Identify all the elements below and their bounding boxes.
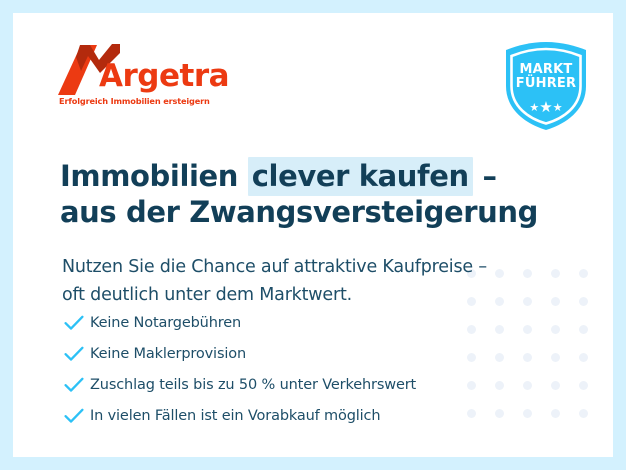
subheadline-line-2: oft deutlich unter dem Marktwert. — [62, 285, 352, 305]
badge-star-left: ★ — [529, 102, 539, 114]
grid-dot — [551, 325, 560, 334]
badge-text: MARKT FÜHRER — [500, 63, 592, 91]
promo-card: Argetra Erfolgreich Immobilien ersteiger… — [0, 0, 626, 470]
check-icon — [64, 346, 90, 362]
grid-dot — [579, 381, 588, 390]
badge-line-2: FÜHRER — [500, 77, 592, 91]
check-icon — [64, 315, 90, 331]
benefit-label: Keine Notargebühren — [90, 315, 241, 331]
benefit-item: Keine Notargebühren — [64, 308, 534, 337]
benefit-item: Zuschlag teils bis zu 50 % unter Verkehr… — [64, 370, 534, 399]
headline-highlight: clever kaufen — [248, 157, 473, 196]
grid-dot — [551, 353, 560, 362]
market-leader-badge: MARKT FÜHRER ★★★ — [500, 40, 592, 132]
badge-star-right: ★ — [553, 102, 563, 114]
headline-line-1-pre: Immobilien — [60, 159, 248, 193]
logo-wordmark: Argetra — [99, 61, 229, 92]
headline-line-1-post: – — [473, 159, 497, 193]
benefit-label: Keine Maklerprovision — [90, 346, 246, 362]
benefit-list: Keine NotargebührenKeine Maklerprovision… — [64, 308, 534, 432]
grid-dot — [579, 325, 588, 334]
check-icon — [64, 408, 90, 424]
headline-line-2: aus der Zwangsversteigerung — [60, 195, 538, 229]
page-headline: Immobilien clever kaufen – aus der Zwang… — [60, 158, 570, 230]
benefit-label: In vielen Fällen ist ein Vorabkauf mögli… — [90, 408, 380, 424]
grid-dot — [551, 409, 560, 418]
badge-stars: ★★★ — [500, 98, 592, 116]
check-icon — [64, 377, 90, 393]
subheadline-line-1: Nutzen Sie die Chance auf attraktive Kau… — [62, 257, 487, 277]
grid-dot — [579, 409, 588, 418]
card-surface: Argetra Erfolgreich Immobilien ersteiger… — [13, 13, 613, 457]
grid-dot — [579, 353, 588, 362]
benefit-item: Keine Maklerprovision — [64, 339, 534, 368]
benefit-item: In vielen Fällen ist ein Vorabkauf mögli… — [64, 401, 534, 430]
badge-line-1: MARKT — [500, 63, 592, 77]
badge-star-center: ★ — [539, 99, 552, 116]
brand-logo[interactable]: Argetra Erfolgreich Immobilien ersteiger… — [57, 39, 207, 114]
grid-dot — [551, 381, 560, 390]
benefit-label: Zuschlag teils bis zu 50 % unter Verkehr… — [90, 377, 416, 393]
logo-tagline: Erfolgreich Immobilien ersteigern — [59, 96, 210, 106]
page-subheadline: Nutzen Sie die Chance auf attraktive Kau… — [62, 253, 582, 309]
